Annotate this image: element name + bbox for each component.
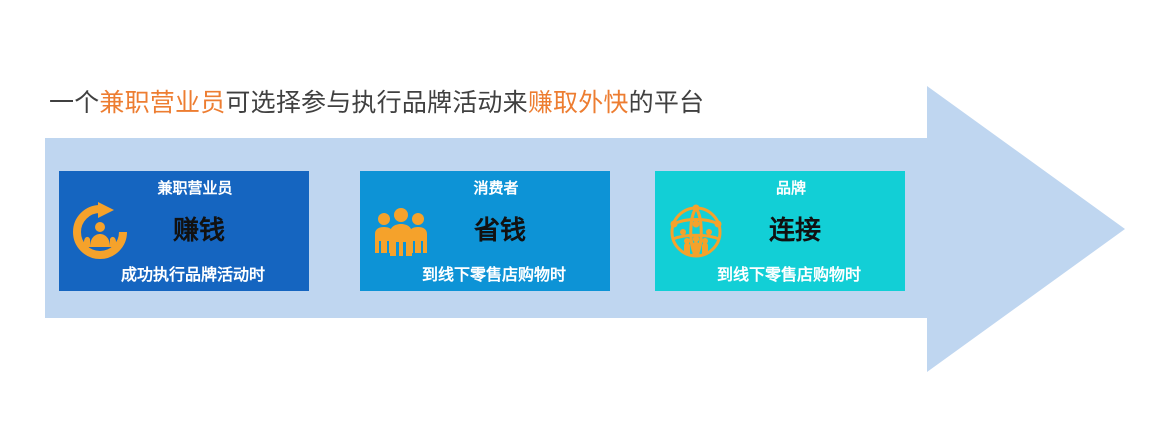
card-main-consumer: 省钱 [360, 215, 610, 247]
card-header-consumer: 消费者 [360, 178, 610, 198]
slide-canvas: 一个兼职营业员可选择参与执行品牌活动来赚取外快的平台 兼职营业员 赚钱 成功执行… [0, 0, 1150, 430]
card-footer-part-time-clerk: 成功执行品牌活动时 [59, 264, 309, 286]
title-segment-4: 的平台 [629, 88, 705, 117]
card-header-brand: 品牌 [655, 178, 905, 198]
card-main-brand: 连接 [655, 215, 905, 247]
card-consumer[interactable]: 消费者 省钱 到线下零售店购物时 [360, 171, 610, 291]
title-segment-2: 可选择参与执行品牌活动来 [225, 88, 527, 117]
page-title: 一个兼职营业员可选择参与执行品牌活动来赚取外快的平台 [49, 86, 704, 120]
card-header-part-time-clerk: 兼职营业员 [59, 178, 309, 198]
title-segment-0: 一个 [49, 88, 99, 117]
title-segment-3-highlight: 赚取外快 [528, 88, 629, 117]
card-footer-brand: 到线下零售店购物时 [655, 264, 905, 286]
card-main-part-time-clerk: 赚钱 [59, 215, 309, 247]
card-brand[interactable]: 品牌 [655, 171, 905, 291]
card-part-time-clerk[interactable]: 兼职营业员 赚钱 成功执行品牌活动时 [59, 171, 309, 291]
title-segment-1-highlight: 兼职营业员 [99, 88, 225, 117]
card-footer-consumer: 到线下零售店购物时 [360, 264, 610, 286]
